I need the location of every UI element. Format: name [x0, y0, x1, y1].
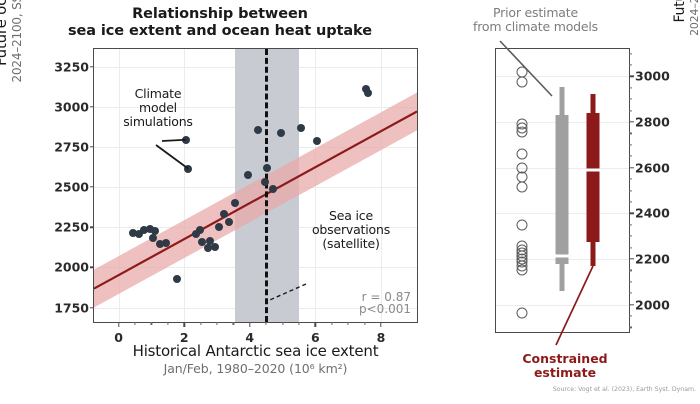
prior-estimate-note: Prior estimate from climate models [448, 6, 623, 35]
chart-title-line2: sea ice extent and ocean heat uptake [60, 23, 380, 40]
left-y-axis-label: Future ocean heat uptake 2024–2100, SSP5… [0, 0, 24, 92]
statistic-p: p<0.001 [359, 303, 411, 316]
chart-title-line1: Relationship between [60, 6, 380, 23]
correlation-statistics: r = 0.87p<0.001 [359, 291, 411, 316]
annotation-leader-lines [94, 49, 417, 322]
y-tick-mark [629, 121, 634, 122]
constrained-estimate-note-line1: Constrained [500, 352, 630, 366]
leader-line [162, 140, 186, 141]
y-tick-mark-minor [629, 293, 632, 294]
y-tick-mark-minor [629, 156, 632, 157]
x-tick-mark-minor [151, 322, 152, 325]
x-tick-mark-minor [216, 322, 217, 325]
leader-line [156, 145, 188, 169]
x-tick-mark-minor [233, 322, 234, 325]
boxplot-median [556, 254, 569, 257]
gridline-horizontal [496, 305, 629, 306]
y-tick-mark [629, 304, 634, 305]
model-point-circle [517, 77, 528, 88]
x-tick-mark-minor [348, 322, 349, 325]
prior-estimate-note-line1: Prior estimate [448, 6, 623, 20]
model-point-circle [517, 127, 528, 138]
constrained-estimate-note: Constrained estimate [500, 352, 630, 381]
x-tick-mark [183, 322, 184, 327]
y-tick-label: 2000 [635, 297, 670, 312]
boxplot-box [556, 115, 569, 263]
y-tick-mark-minor [629, 247, 632, 248]
y-tick-mark-minor [629, 53, 632, 54]
y-tick-label: 3250 [54, 59, 89, 74]
y-tick-mark [629, 76, 634, 77]
model-point-circle [517, 265, 528, 276]
left-panel-scatter: Relationship between sea ice extent and … [0, 0, 440, 404]
y-tick-mark-minor [629, 64, 632, 65]
boxplot-box [587, 113, 600, 242]
y-tick-label: 2000 [54, 260, 89, 275]
right-plot-area: 200022002400260028003000 [495, 48, 630, 333]
gridline-horizontal [496, 76, 629, 77]
x-tick-mark [380, 322, 381, 327]
chart-title: Relationship between sea ice extent and … [60, 6, 380, 40]
x-tick-mark-minor [167, 322, 168, 325]
y-tick-mark-minor [629, 236, 632, 237]
x-tick-mark [315, 322, 316, 327]
y-tick-mark [629, 258, 634, 259]
x-tick-mark-minor [134, 322, 135, 325]
y-tick-mark-minor [629, 201, 632, 202]
y-tick-label: 2250 [54, 220, 89, 235]
x-tick-mark [249, 322, 250, 327]
x-tick-mark-minor [266, 322, 267, 325]
y-tick-label: 3000 [635, 69, 670, 84]
y-tick-label: 2750 [54, 139, 89, 154]
y-tick-mark-minor [629, 190, 632, 191]
left-x-axis-label-line1: Historical Antarctic sea ice extent [93, 342, 418, 360]
y-tick-mark [629, 213, 634, 214]
y-tick-mark-minor [629, 224, 632, 225]
sea-ice-observations-annotation-line3: (satellite) [290, 237, 412, 251]
model-point-circle [517, 307, 528, 318]
model-point-circle [517, 182, 528, 193]
left-plot-area: 175020002250250027503000325002468Climate… [93, 48, 418, 323]
x-tick-mark [118, 322, 119, 327]
y-tick-mark-minor [629, 327, 632, 328]
left-x-axis-label-line2: Jan/Feb, 1980–2020 (10⁶ km²) [93, 361, 418, 376]
sea-ice-observations-annotation: Sea iceobservations(satellite) [290, 209, 412, 251]
x-tick-mark-minor [298, 322, 299, 325]
y-tick-mark-minor [629, 178, 632, 179]
model-point-circle [517, 148, 528, 159]
y-tick-label: 1750 [54, 300, 89, 315]
constrained-estimate-note-line2: estimate [500, 366, 630, 380]
leader-line-dashed [268, 284, 306, 301]
y-tick-mark-minor [629, 315, 632, 316]
y-tick-mark-minor [629, 110, 632, 111]
y-tick-mark [629, 167, 634, 168]
source-citation: Source: Vogt et al. (2023), Earth Syst. … [516, 386, 696, 393]
y-tick-label: 2600 [635, 160, 670, 175]
left-y-axis-label-line2: 2024–2100, SSP5-8.5 scenario (10²¹ J) [10, 0, 24, 92]
sea-ice-observations-annotation-line2: observations [290, 223, 412, 237]
y-tick-label: 3000 [54, 99, 89, 114]
right-panel-boxplot: Prior estimate from climate models 20002… [440, 0, 700, 404]
x-tick-mark-minor [364, 322, 365, 325]
y-tick-label: 2400 [635, 206, 670, 221]
left-y-axis-label-line1: Future ocean heat uptake [0, 0, 10, 92]
model-point-circle [517, 219, 528, 230]
y-tick-mark-minor [629, 133, 632, 134]
right-y-axis-label: Future ocean heat uptake 2024–2100, SSP5… [672, 0, 700, 60]
prior-estimate-note-line2: from climate models [448, 20, 623, 34]
right-y-axis-label-line1: Future ocean heat uptake [672, 0, 688, 60]
y-tick-mark-minor [629, 281, 632, 282]
figure-root: Relationship between sea ice extent and … [0, 0, 700, 404]
y-tick-label: 2500 [54, 180, 89, 195]
y-tick-mark-minor [629, 99, 632, 100]
sea-ice-observations-annotation-line1: Sea ice [290, 209, 412, 223]
y-tick-mark-minor [629, 270, 632, 271]
left-x-axis-label: Historical Antarctic sea ice extent Jan/… [93, 328, 418, 376]
y-tick-label: 2200 [635, 251, 670, 266]
y-tick-mark-minor [629, 87, 632, 88]
x-tick-mark-minor [200, 322, 201, 325]
y-tick-mark-minor [629, 144, 632, 145]
x-tick-mark-minor [282, 322, 283, 325]
boxplot-median [587, 168, 600, 171]
right-y-axis-label-line2: 2024–2100, SSP5-8.5 scenario (10²¹ J) [688, 0, 700, 60]
y-tick-label: 2800 [635, 115, 670, 130]
x-tick-mark-minor [331, 322, 332, 325]
